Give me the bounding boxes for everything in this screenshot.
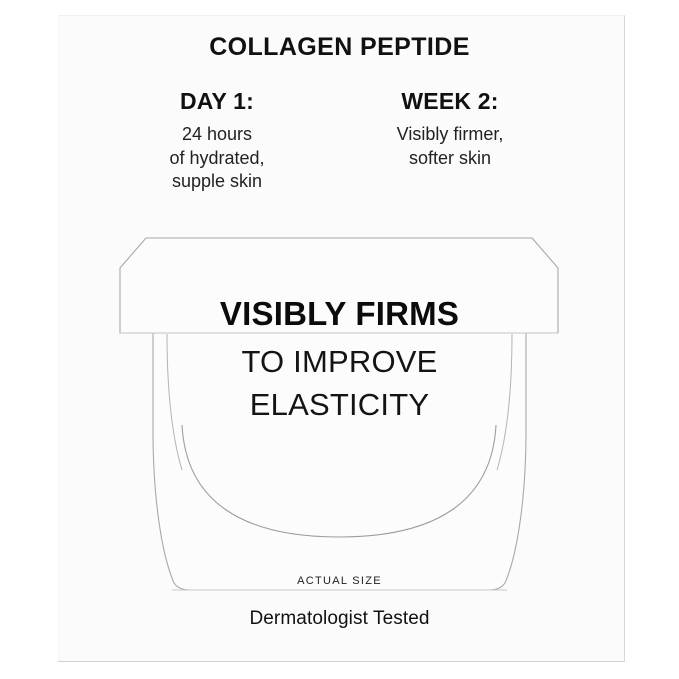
claim-headline: VISIBLY FIRMS [0, 297, 679, 330]
benefit-column-day1: DAY 1: 24 hours of hydrated, supple skin [102, 88, 332, 194]
benefit-line: 24 hours [102, 123, 332, 146]
page-title: COLLAGEN PEPTIDE [0, 34, 679, 62]
benefit-line: supple skin [102, 170, 332, 193]
benefit-line: Visibly firmer, [335, 123, 565, 146]
benefit-body-day1: 24 hours of hydrated, supple skin [102, 123, 332, 193]
claim-subheadline-line1: TO IMPROVE [0, 340, 679, 383]
benefit-body-week2: Visibly firmer, softer skin [335, 123, 565, 170]
actual-size-label: ACTUAL SIZE [0, 575, 679, 587]
claim-subheadline: TO IMPROVE ELASTICITY [0, 340, 679, 427]
dermatologist-tested-label: Dermatologist Tested [0, 608, 679, 630]
benefit-heading-day1: DAY 1: [102, 88, 332, 114]
benefit-line: softer skin [335, 147, 565, 170]
product-image-canvas: COLLAGEN PEPTIDE DAY 1: 24 hours of hydr… [0, 0, 679, 679]
benefit-column-week2: WEEK 2: Visibly firmer, softer skin [335, 88, 565, 170]
claim-subheadline-line2: ELASTICITY [0, 383, 679, 426]
benefit-heading-week2: WEEK 2: [335, 88, 565, 114]
benefit-line: of hydrated, [102, 147, 332, 170]
